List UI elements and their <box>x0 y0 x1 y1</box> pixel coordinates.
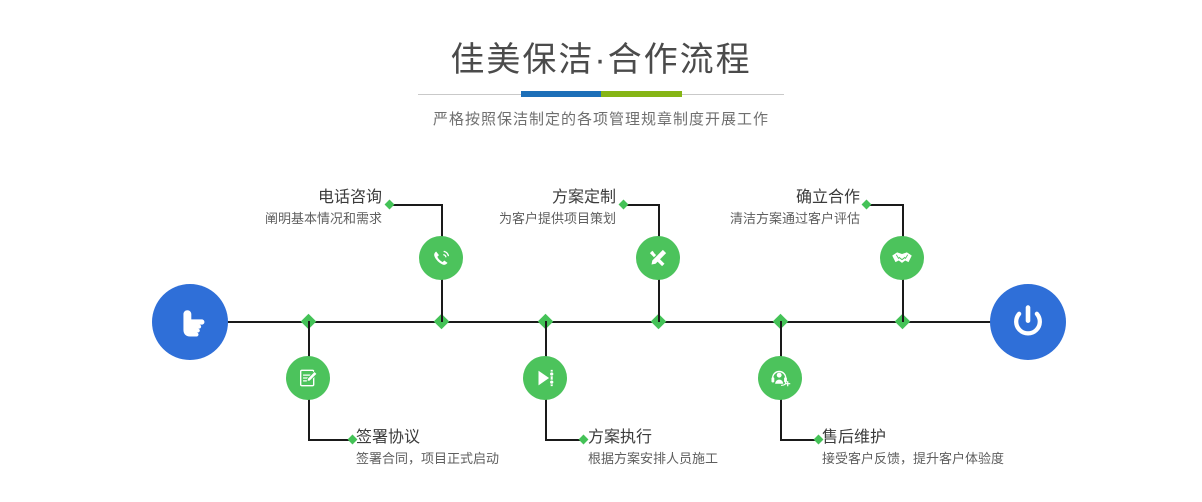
flow-start-node[interactable] <box>152 284 228 360</box>
step-6-title: 售后维护 <box>822 427 1122 449</box>
step-2-label: 签署协议 签署合同，项目正式启动 <box>356 427 616 469</box>
step-6-label: 售后维护 接受客户反馈，提升客户体验度 <box>822 427 1122 469</box>
step-5-label-marker <box>862 200 872 210</box>
phone-call-icon <box>428 245 454 271</box>
step-6-icon-node[interactable] <box>758 356 802 400</box>
step-3-title: 方案定制 <box>388 187 616 209</box>
divider-line-left <box>418 94 522 95</box>
customer-service-icon <box>767 365 793 391</box>
step-4-desc: 根据方案安排人员施工 <box>588 449 848 469</box>
step-3-desc: 为客户提供项目策划 <box>388 209 616 229</box>
play-execute-icon <box>532 365 558 391</box>
step-2-title: 签署协议 <box>356 427 616 449</box>
step-1-label: 电话咨询 阐明基本情况和需求 <box>150 187 382 229</box>
title-divider <box>0 91 1202 99</box>
step-5-desc: 清洁方案通过客户评估 <box>632 209 860 229</box>
step-2-desc: 签署合同，项目正式启动 <box>356 449 616 469</box>
header: 佳美保洁·合作流程 <box>0 0 1202 80</box>
step-3-label: 方案定制 为客户提供项目策划 <box>388 187 616 229</box>
page-subtitle: 严格按照保洁制定的各项管理规章制度开展工作 <box>0 108 1202 129</box>
divider-segment-blue <box>521 91 601 97</box>
step-5-connector-horizontal <box>868 204 903 206</box>
step-5-label: 确立合作 清洁方案通过客户评估 <box>632 187 860 229</box>
page-title: 佳美保洁·合作流程 <box>0 40 1202 80</box>
pencil-ruler-icon <box>645 245 671 271</box>
step-4-label: 方案执行 根据方案安排人员施工 <box>588 427 848 469</box>
document-edit-icon <box>295 365 321 391</box>
step-1-desc: 阐明基本情况和需求 <box>150 209 382 229</box>
step-3-label-marker <box>619 200 629 210</box>
divider-line-right <box>682 94 784 95</box>
step-5-icon-node[interactable] <box>880 236 924 280</box>
step-1-icon-node[interactable] <box>419 236 463 280</box>
pointing-hand-icon <box>169 301 211 343</box>
step-2-icon-node[interactable] <box>286 356 330 400</box>
power-icon <box>1007 301 1049 343</box>
step-3-icon-node[interactable] <box>636 236 680 280</box>
step-1-title: 电话咨询 <box>150 187 382 209</box>
process-flow-infographic: 佳美保洁·合作流程 严格按照保洁制定的各项管理规章制度开展工作 <box>0 0 1202 502</box>
step-2-connector-horizontal <box>308 439 352 441</box>
handshake-icon <box>889 245 915 271</box>
step-4-title: 方案执行 <box>588 427 848 449</box>
step-6-desc: 接受客户反馈，提升客户体验度 <box>822 449 1122 469</box>
step-5-title: 确立合作 <box>632 187 860 209</box>
flow-end-node[interactable] <box>990 284 1066 360</box>
step-4-icon-node[interactable] <box>523 356 567 400</box>
divider-segment-green <box>601 91 682 97</box>
